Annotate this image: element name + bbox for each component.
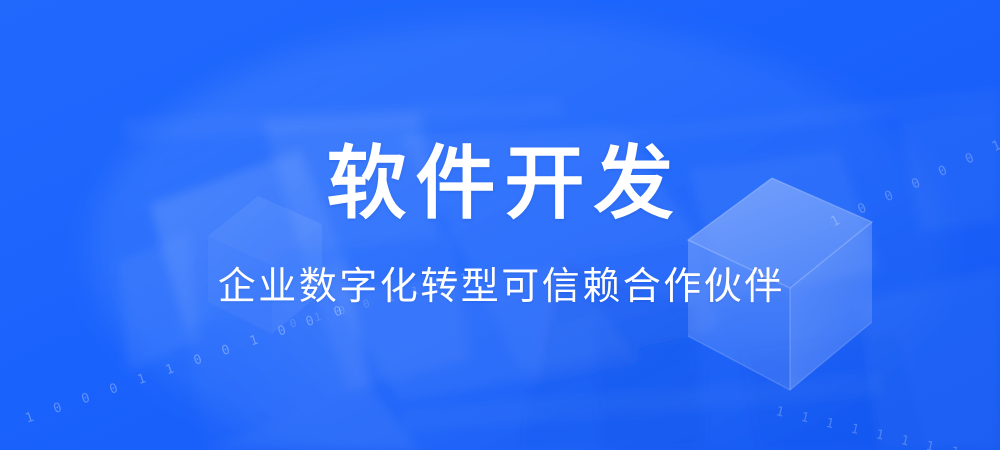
- hero-banner: 1 0 0 0 1 1 0 0 1 0 0 0 1 0 0 0 0 0 1 0 …: [0, 0, 1000, 450]
- banner-title: 软件开发: [327, 144, 683, 224]
- banner-content: 软件开发 企业数字化转型可信赖合作伙伴: [0, 0, 1000, 450]
- banner-subtitle: 企业数字化转型可信赖合作伙伴: [218, 268, 785, 306]
